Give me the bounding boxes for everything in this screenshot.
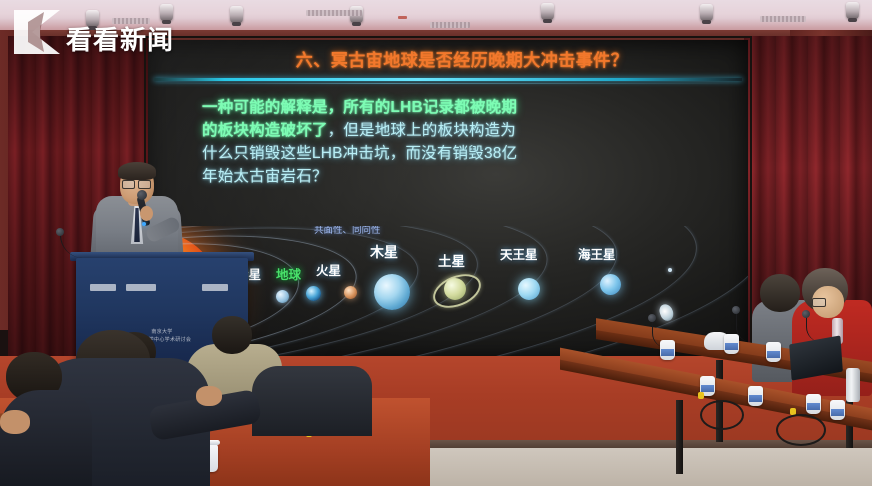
microphone-led-indicator bbox=[142, 222, 146, 226]
table-leg bbox=[676, 400, 683, 474]
planet-neptune-icon bbox=[600, 274, 621, 295]
slide-body-line: 的板块构造破坏了，但是地球上的板块构造为 bbox=[202, 119, 702, 142]
channel-logo-text: 看看新闻 bbox=[66, 20, 174, 57]
dwarf-planet-icon bbox=[668, 268, 672, 272]
diagram-annotation: 共面性、同向性 bbox=[314, 226, 381, 236]
ceiling-vent bbox=[760, 16, 806, 22]
speaker-glasses-icon bbox=[138, 180, 151, 189]
podium-logo-icon bbox=[202, 284, 228, 291]
attendee-head bbox=[760, 274, 800, 312]
planet-earth-icon bbox=[306, 286, 321, 301]
drinking-cup bbox=[766, 342, 781, 362]
ceiling-spotlight-icon bbox=[846, 2, 859, 19]
slide-body-text: 一种可能的解释是，所有的LHB记录都被晚期 的板块构造破坏了，但是地球上的板块构… bbox=[202, 96, 702, 188]
audience-hand bbox=[196, 386, 222, 406]
podium-logo-icon bbox=[126, 284, 156, 291]
ceiling-vent bbox=[430, 22, 470, 28]
planet-label-jupiter: 木星 bbox=[370, 242, 398, 262]
planet-label-neptune: 海王星 bbox=[578, 244, 616, 263]
speaker-hair bbox=[118, 162, 156, 180]
podium-logo-icon bbox=[90, 284, 116, 291]
planet-jupiter-icon bbox=[374, 274, 410, 310]
drinking-cup bbox=[830, 400, 845, 420]
attendee-glasses-icon bbox=[812, 298, 826, 307]
planet-venus-icon bbox=[276, 290, 289, 303]
ceiling-vent bbox=[306, 10, 362, 16]
slide-body-emphasis: 一种可能的解释是，所有的LHB记录都被晚期 bbox=[202, 99, 517, 116]
slide-body-normal: 什么只销毁这些LHB冲击坑，而没有销毁38亿 bbox=[202, 145, 517, 162]
microphone-head-icon bbox=[137, 190, 147, 200]
slide-body-emphasis: 的板块构造破坏了 bbox=[202, 122, 328, 139]
table-microphone-head-icon bbox=[732, 306, 740, 314]
planet-mars-icon bbox=[344, 286, 357, 299]
slide-body-normal: 年始太古宙岩石？ bbox=[202, 168, 328, 185]
audience-hand bbox=[0, 410, 30, 434]
audience-member-dark bbox=[252, 366, 372, 436]
slide-body-line: 一种可能的解释是，所有的LHB记录都被晚期 bbox=[202, 96, 702, 119]
slide-title-divider-secondary bbox=[154, 83, 742, 84]
slide-title-divider bbox=[154, 78, 742, 81]
ceiling-spotlight-icon bbox=[541, 3, 554, 20]
channel-logo: 看看新闻 bbox=[10, 8, 310, 60]
audience-member-foreground bbox=[0, 390, 92, 486]
table-microphone-head-icon bbox=[802, 310, 810, 318]
slide-body-normal: ，但是地球上的板块构造为 bbox=[328, 122, 516, 139]
speaker-hand bbox=[140, 206, 153, 221]
audio-cable bbox=[776, 414, 826, 446]
cable-clip bbox=[698, 392, 704, 399]
drinking-cup bbox=[748, 386, 763, 406]
audio-cable bbox=[700, 400, 744, 430]
drinking-cup bbox=[724, 334, 739, 354]
ceiling-indicator-light bbox=[398, 16, 407, 19]
thermos-flask bbox=[846, 368, 860, 402]
podium-microphone-head-icon bbox=[56, 228, 64, 236]
table-microphone-head-icon bbox=[648, 314, 656, 322]
k-logo-icon bbox=[10, 8, 62, 56]
slide-body-line: 什么只销毁这些LHB冲击坑，而没有销毁38亿 bbox=[202, 142, 702, 165]
lecture-hall-broadcast-frame: 六、冥古宙地球是否经历晚期大冲击事件？ 一种可能的解释是，所有的LHB记录都被晚… bbox=[0, 0, 872, 486]
audience-head bbox=[212, 316, 252, 354]
planet-uranus-icon bbox=[518, 278, 540, 300]
planet-label-saturn: 土星 bbox=[438, 250, 465, 270]
ceiling-spotlight-icon bbox=[700, 4, 713, 21]
planet-label-earth: 地球 bbox=[276, 264, 301, 283]
slide-body-line: 年始太古宙岩石？ bbox=[202, 165, 702, 188]
planet-label-mars: 火星 bbox=[316, 260, 341, 279]
planet-label-uranus: 天王星 bbox=[500, 244, 538, 263]
drinking-cup bbox=[660, 340, 675, 360]
speaker-glasses-icon bbox=[122, 180, 135, 189]
drinking-cup bbox=[806, 394, 821, 414]
